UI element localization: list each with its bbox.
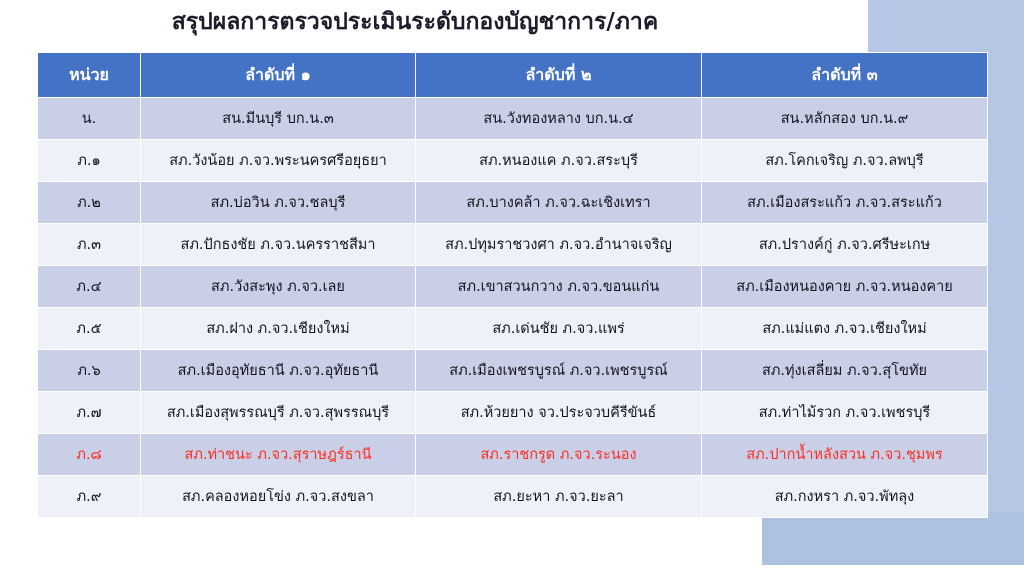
decorative-band-bottom-right (762, 512, 1024, 565)
cell-rank-3: สภ.แม่แตง ภ.จว.เชียงใหม่ (702, 308, 988, 350)
cell-unit: ภ.๓ (38, 224, 141, 266)
column-header-rank-3: ลำดับที่ ๓ (702, 53, 988, 98)
table-row: น.สน.มีนบุรี บก.น.๓สน.วังทองหลาง บก.น.๔ส… (38, 98, 988, 140)
cell-rank-2: สภ.เด่นชัย ภ.จว.แพร่ (416, 308, 702, 350)
cell-unit: ภ.๑ (38, 140, 141, 182)
cell-rank-1: สภ.วังน้อย ภ.จว.พระนครศรีอยุธยา (141, 140, 416, 182)
table-row: ภ.๔สภ.วังสะพุง ภ.จว.เลยสภ.เขาสวนกวาง ภ.จ… (38, 266, 988, 308)
cell-unit: ภ.๔ (38, 266, 141, 308)
table-row: ภ.๓สภ.ปักธงชัย ภ.จว.นครราชสีมาสภ.ปทุมราช… (38, 224, 988, 266)
cell-rank-1: สภ.ท่าชนะ ภ.จว.สุราษฎร์ธานี (141, 434, 416, 476)
table-row: ภ.๖สภ.เมืองอุทัยธานี ภ.จว.อุทัยธานีสภ.เม… (38, 350, 988, 392)
cell-rank-3: สภ.ปรางค์กู่ ภ.จว.ศรีษะเกษ (702, 224, 988, 266)
cell-rank-2: สภ.ยะหา ภ.จว.ยะลา (416, 476, 702, 518)
cell-rank-1: สภ.เมืองอุทัยธานี ภ.จว.อุทัยธานี (141, 350, 416, 392)
cell-rank-1: สภ.ปักธงชัย ภ.จว.นครราชสีมา (141, 224, 416, 266)
cell-rank-2: สภ.เขาสวนกวาง ภ.จว.ขอนแก่น (416, 266, 702, 308)
cell-unit: ภ.๕ (38, 308, 141, 350)
column-header-rank-1: ลำดับที่ ๑ (141, 53, 416, 98)
cell-rank-2: สภ.เมืองเพชรบูรณ์ ภ.จว.เพชรบูรณ์ (416, 350, 702, 392)
table-header-row: หน่วย ลำดับที่ ๑ ลำดับที่ ๒ ลำดับที่ ๓ (38, 53, 988, 98)
cell-rank-2: สภ.หนองแค ภ.จว.สระบุรี (416, 140, 702, 182)
table-row: ภ.๗สภ.เมืองสุพรรณบุรี ภ.จว.สุพรรณบุรีสภ.… (38, 392, 988, 434)
cell-unit: น. (38, 98, 141, 140)
table-row: ภ.๙สภ.คลองหอยโข่ง ภ.จว.สงขลาสภ.ยะหา ภ.จว… (38, 476, 988, 518)
cell-rank-3: สภ.กงหรา ภ.จว.พัทลุง (702, 476, 988, 518)
cell-rank-3: สภ.โคกเจริญ ภ.จว.ลพบุรี (702, 140, 988, 182)
cell-rank-1: สภ.บ่อวิน ภ.จว.ชลบุรี (141, 182, 416, 224)
table-body: น.สน.มีนบุรี บก.น.๓สน.วังทองหลาง บก.น.๔ส… (38, 98, 988, 518)
table-row: ภ.๒สภ.บ่อวิน ภ.จว.ชลบุรีสภ.บางคล้า ภ.จว.… (38, 182, 988, 224)
cell-rank-2: สภ.บางคล้า ภ.จว.ฉะเชิงเทรา (416, 182, 702, 224)
cell-rank-2: สภ.ห้วยยาง จว.ประจวบคีรีขันธ์ (416, 392, 702, 434)
table-row: ภ.๑สภ.วังน้อย ภ.จว.พระนครศรีอยุธยาสภ.หนอ… (38, 140, 988, 182)
cell-rank-3: สภ.ปากน้ำหลังสวน ภ.จว.ชุมพร (702, 434, 988, 476)
cell-rank-3: สน.หลักสอง บก.น.๙ (702, 98, 988, 140)
cell-rank-1: สภ.เมืองสุพรรณบุรี ภ.จว.สุพรรณบุรี (141, 392, 416, 434)
table-header: หน่วย ลำดับที่ ๑ ลำดับที่ ๒ ลำดับที่ ๓ (38, 53, 988, 98)
cell-unit: ภ.๒ (38, 182, 141, 224)
results-table-container: หน่วย ลำดับที่ ๑ ลำดับที่ ๒ ลำดับที่ ๓ น… (37, 52, 987, 518)
cell-unit: ภ.๖ (38, 350, 141, 392)
column-header-rank-2: ลำดับที่ ๒ (416, 53, 702, 98)
table-row: ภ.๕สภ.ฝาง ภ.จว.เชียงใหม่สภ.เด่นชัย ภ.จว.… (38, 308, 988, 350)
cell-unit: ภ.๗ (38, 392, 141, 434)
cell-rank-1: สภ.คลองหอยโข่ง ภ.จว.สงขลา (141, 476, 416, 518)
cell-rank-3: สภ.เมืองสระแก้ว ภ.จว.สระแก้ว (702, 182, 988, 224)
cell-rank-2: สน.วังทองหลาง บก.น.๔ (416, 98, 702, 140)
cell-unit: ภ.๘ (38, 434, 141, 476)
cell-rank-3: สภ.เมืองหนองคาย ภ.จว.หนองคาย (702, 266, 988, 308)
cell-rank-1: สภ.ฝาง ภ.จว.เชียงใหม่ (141, 308, 416, 350)
assessment-results-table: หน่วย ลำดับที่ ๑ ลำดับที่ ๒ ลำดับที่ ๓ น… (37, 52, 988, 518)
cell-rank-1: สภ.วังสะพุง ภ.จว.เลย (141, 266, 416, 308)
page-title: สรุปผลการตรวจประเมินระดับกองบัญชาการ/ภาค (0, 8, 830, 37)
cell-rank-2: สภ.ราชกรูด ภ.จว.ระนอง (416, 434, 702, 476)
cell-rank-2: สภ.ปทุมราชวงศา ภ.จว.อำนาจเจริญ (416, 224, 702, 266)
cell-rank-3: สภ.ทุ่งเสลี่ยม ภ.จว.สุโขทัย (702, 350, 988, 392)
column-header-unit: หน่วย (38, 53, 141, 98)
table-row: ภ.๘สภ.ท่าชนะ ภ.จว.สุราษฎร์ธานีสภ.ราชกรูด… (38, 434, 988, 476)
cell-unit: ภ.๙ (38, 476, 141, 518)
cell-rank-1: สน.มีนบุรี บก.น.๓ (141, 98, 416, 140)
cell-rank-3: สภ.ท่าไม้รวก ภ.จว.เพชรบุรี (702, 392, 988, 434)
